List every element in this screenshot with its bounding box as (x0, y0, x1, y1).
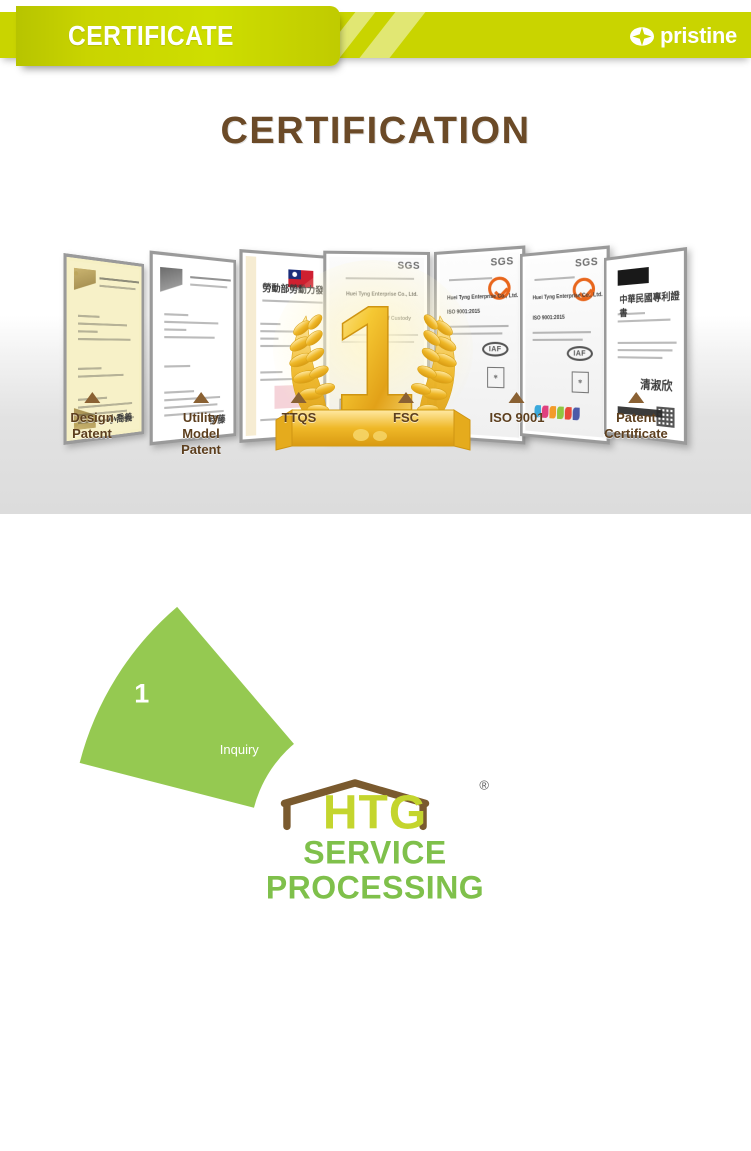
cert-marker-ttqs: TTQS (282, 392, 317, 426)
service-processing-section: 1Inquiry HTG ® SERVICE PROCESSING (0, 514, 751, 1151)
page-title: CERTIFICATE (68, 20, 234, 52)
service-processing-wheel: 1Inquiry HTG ® SERVICE PROCESSING (65, 529, 685, 1149)
cert-label-line: Certificate (604, 426, 668, 441)
header-title-tab: CERTIFICATE (16, 6, 340, 66)
hub-line-2: PROCESSING (255, 870, 495, 905)
cert-company-name: Huei Tyng Enterprise Co., Ltd. (340, 291, 424, 298)
cert-label-line: Patent (181, 442, 221, 457)
sgs-label: SGS (397, 261, 420, 272)
triangle-up-icon (193, 392, 209, 403)
wheel-hub: HTG ® SERVICE PROCESSING (255, 773, 495, 904)
triangle-up-icon (291, 392, 307, 403)
triangle-up-icon (398, 392, 414, 403)
cert-marker-fsc: FSC (393, 392, 419, 426)
registered-mark: ® (479, 777, 489, 792)
sgs-label: SGS (575, 256, 598, 270)
brand-logo: pristine (630, 23, 737, 49)
cert-company-name: Huei Tyng Enterprise Co., Ltd. (447, 293, 518, 302)
cert-iso-code: ISO 9001:2015 (533, 315, 565, 322)
wheel-step-number: 1 (134, 678, 149, 708)
cert-marker-patent-certificate: Patent Certificate (604, 392, 668, 442)
triangle-up-icon (84, 392, 100, 403)
cert-fsc-line: FSC™ Chain of Custody (340, 316, 424, 322)
cert-label-line: FSC (393, 410, 419, 425)
certification-section: CERTIFICATION (0, 82, 751, 514)
cert-label-line: Patent (616, 410, 656, 425)
sgs-label: SGS (491, 256, 514, 269)
iaf-mark-icon: IAF (567, 346, 593, 361)
page-header: CERTIFICATE pristine (0, 0, 751, 82)
cert-iso-code: ISO 9001:2015 (447, 309, 480, 316)
wheel-step-label: Inquiry (220, 742, 260, 757)
htg-logo-text: HTG (255, 785, 495, 840)
triangle-up-icon (628, 392, 644, 403)
cert-label-line: Model (182, 426, 220, 441)
cert-label-line: ISO 9001 (490, 410, 545, 425)
cert-cn-title: 勞動部勞動力發 (262, 280, 323, 296)
triangle-up-icon (509, 392, 525, 403)
certification-heading: CERTIFICATION (0, 110, 751, 153)
cert-marker-utility-model-patent: Utility Model Patent (181, 392, 221, 458)
cert-label-line: Utility (183, 410, 219, 425)
certificate-gallery: 小喬義 伊藤 (0, 170, 751, 390)
cert-marker-design-patent: Design Patent (70, 392, 113, 442)
brand-name: pristine (660, 23, 737, 49)
hub-line-1: SERVICE (255, 835, 495, 870)
certificate-label-row: Design Patent Utility Model Patent TTQS … (0, 382, 751, 492)
iaf-mark-icon: IAF (482, 342, 508, 357)
star-oval-icon (630, 26, 654, 47)
cert-marker-iso-9001: ISO 9001 (490, 392, 545, 426)
cert-label-line: Design (70, 410, 113, 425)
cert-company-name: Huei Tyng Enterprise Co., Ltd. (533, 292, 603, 302)
cert-label-line: Patent (72, 426, 112, 441)
cert-label-line: TTQS (282, 410, 317, 425)
